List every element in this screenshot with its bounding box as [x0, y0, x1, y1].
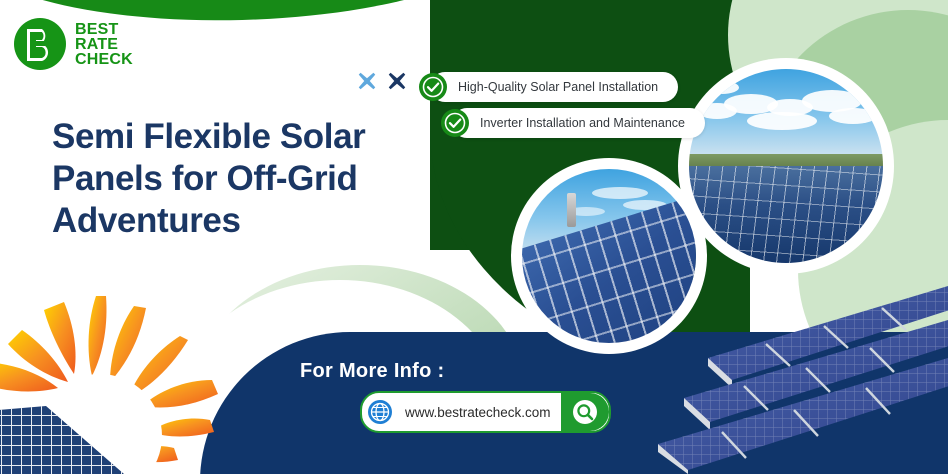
sun-and-solar-panel-illustration — [0, 296, 242, 474]
brand-name-line3: CHECK — [75, 52, 133, 67]
logo-b-mark-icon — [25, 27, 53, 61]
brand-name-line2: RATE — [75, 37, 133, 52]
brand-name-line1: BEST — [75, 22, 133, 37]
x-mark-light-blue-icon — [356, 70, 378, 92]
feature-pill-0: High-Quality Solar Panel Installation — [430, 72, 678, 102]
feature-pill-1: Inverter Installation and Maintenance — [452, 108, 705, 138]
page-title: Semi Flexible Solar Panels for Off-Grid … — [52, 116, 442, 242]
globe-icon — [367, 399, 393, 425]
best-rate-check-logo-icon — [14, 18, 66, 70]
feature-item-1: Inverter Installation and Maintenance — [440, 108, 705, 138]
solar-panel-array-illustration — [648, 248, 948, 474]
website-url-text: www.bestratecheck.com — [393, 405, 561, 420]
brand-name: BEST RATE CHECK — [75, 22, 133, 67]
x-mark-navy-icon — [386, 70, 408, 92]
website-url-bar[interactable]: www.bestratecheck.com — [360, 391, 611, 433]
solar-promo-banner: BEST RATE CHECK Semi Flexible Solar Pane… — [0, 0, 948, 474]
feature-list: High-Quality Solar Panel Installation In… — [418, 72, 705, 144]
solar-farm-photo — [678, 58, 894, 274]
search-icon — [572, 399, 598, 425]
check-circle-icon — [440, 108, 470, 138]
brand-logo[interactable]: BEST RATE CHECK — [14, 18, 133, 70]
search-button[interactable] — [561, 393, 609, 431]
x-marks-decoration — [356, 70, 408, 92]
cta-label: For More Info : — [300, 360, 444, 383]
check-circle-icon — [418, 72, 448, 102]
feature-item-0: High-Quality Solar Panel Installation — [418, 72, 705, 102]
